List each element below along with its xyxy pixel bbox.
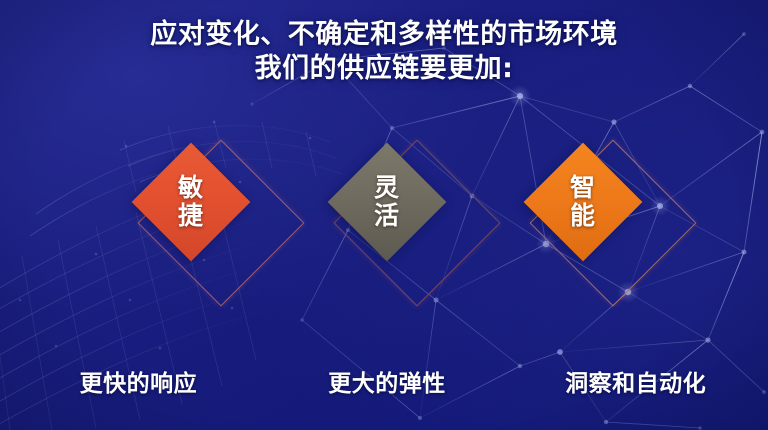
- diamond-char-1-agile: 敏: [178, 174, 204, 202]
- title-line-1: 应对变化、不确定和多样性的市场环境: [0, 18, 768, 52]
- diamond-label-agile: 敏 捷: [149, 160, 233, 244]
- page-title: 应对变化、不确定和多样性的市场环境 我们的供应链要更加:: [0, 18, 768, 86]
- diamond-char-1-intelligent: 智: [570, 174, 596, 202]
- diamond-group-intelligent[interactable]: 智 能: [488, 112, 716, 340]
- diamond-group-agile[interactable]: 敏 捷: [96, 112, 324, 340]
- diamond-char-2-intelligent: 能: [570, 202, 596, 230]
- caption-insight-automation: 洞察和自动化: [511, 364, 760, 398]
- diamond-label-intelligent: 智 能: [541, 160, 625, 244]
- diamond-char-2-agile: 捷: [178, 202, 204, 230]
- diamond-group-flexible[interactable]: 灵 活: [292, 112, 520, 340]
- diamond-row: 敏 捷 灵 活 智 能: [0, 112, 768, 340]
- caption-greater-resilience: 更大的弹性: [263, 364, 512, 398]
- caption-faster-response: 更快的响应: [14, 364, 263, 398]
- title-line-2: 我们的供应链要更加:: [0, 52, 768, 86]
- slide-canvas: 应对变化、不确定和多样性的市场环境 我们的供应链要更加: 敏 捷 灵 活 智: [0, 0, 768, 430]
- diamond-char-2-flexible: 活: [374, 202, 400, 230]
- diamond-label-flexible: 灵 活: [345, 160, 429, 244]
- diamond-char-1-flexible: 灵: [374, 174, 400, 202]
- caption-row: 更快的响应 更大的弹性 洞察和自动化: [0, 364, 768, 398]
